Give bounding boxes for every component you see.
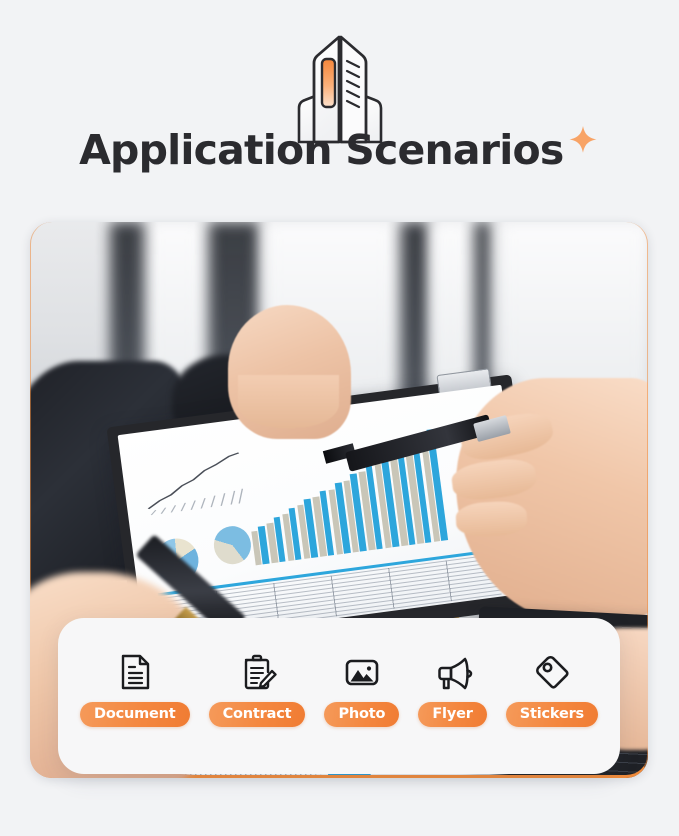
photo-hand-holding-clipboard: [228, 305, 352, 438]
scenario-badge-label: Photo: [324, 702, 399, 728]
scenario-badge-list: Document Contract: [58, 618, 620, 774]
scenario-badge-card: Document Contract: [58, 618, 620, 774]
sparkle-icon: [566, 124, 600, 158]
page-header: Application Scenarios: [0, 0, 679, 205]
scenario-badge-contract[interactable]: Contract: [209, 651, 306, 728]
scenario-badge-flyer[interactable]: Flyer: [418, 651, 486, 728]
photo-chart-piechart: [211, 524, 252, 566]
photo-chart-sparkline: [140, 449, 247, 516]
document-icon: [114, 651, 156, 693]
tag-icon: [531, 651, 573, 693]
scenario-badge-label: Flyer: [418, 702, 486, 728]
page-title-text: Application Scenarios: [79, 130, 563, 171]
scenario-badge-label: Contract: [209, 702, 306, 728]
scenario-badge-label: Stickers: [506, 702, 598, 728]
scenario-badge-document[interactable]: Document: [80, 651, 190, 728]
scenario-badge-stickers[interactable]: Stickers: [506, 651, 598, 728]
clipboard-pencil-icon: [236, 651, 278, 693]
megaphone-icon: [432, 651, 474, 693]
image-icon: [341, 651, 383, 693]
page-title: Application Scenarios: [0, 130, 679, 171]
scenario-badge-label: Document: [80, 702, 190, 728]
scenario-badge-photo[interactable]: Photo: [324, 651, 399, 728]
